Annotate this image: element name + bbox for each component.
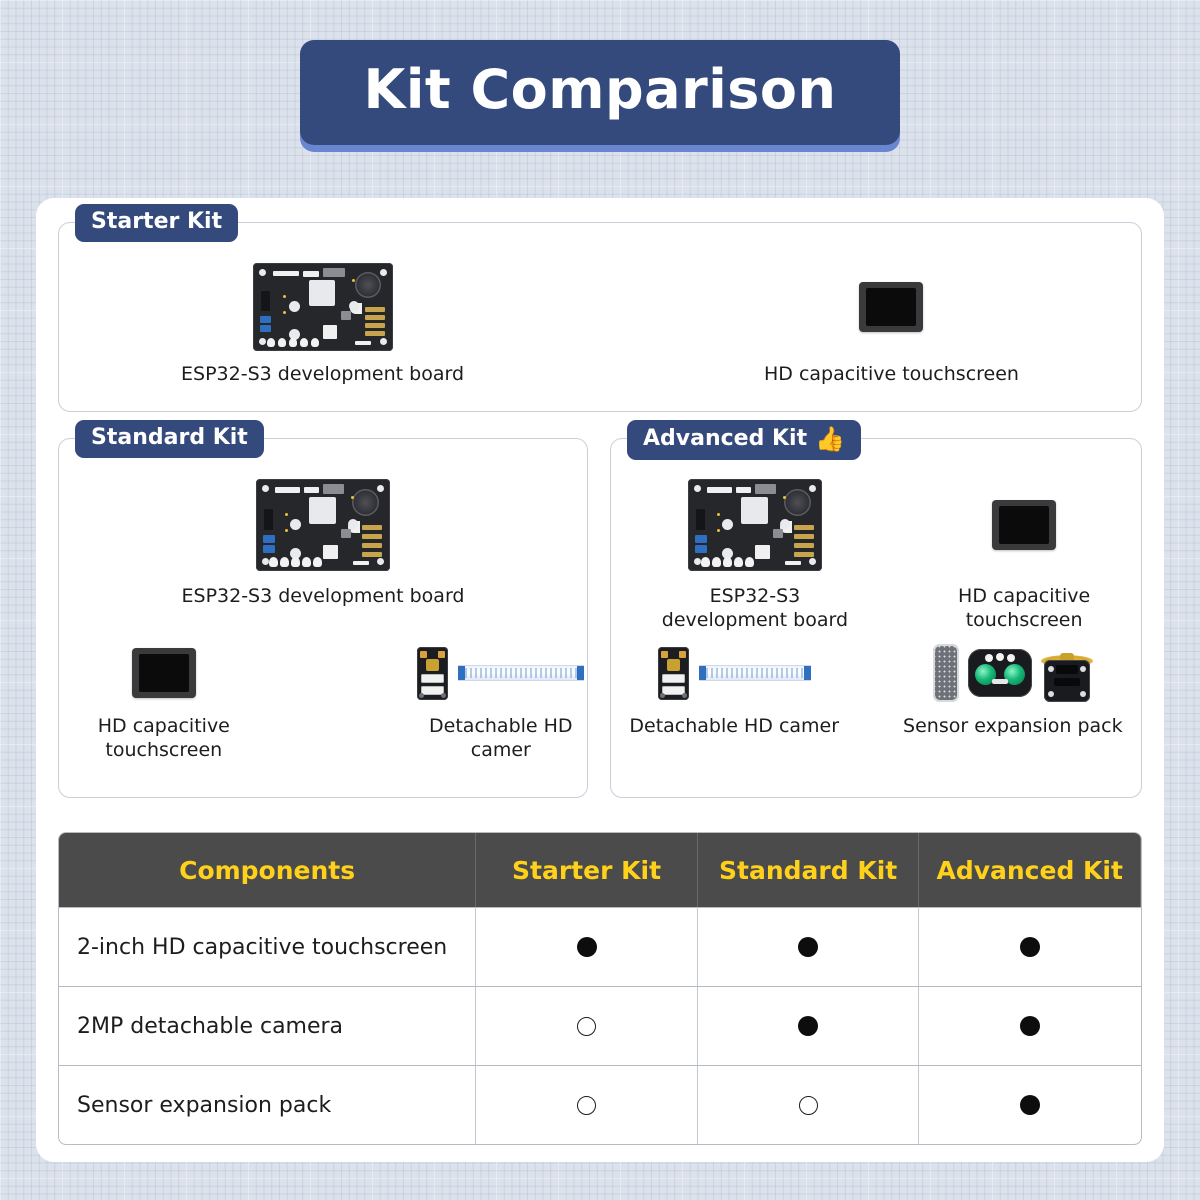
- kit-item[interactable]: HD capacitive touchscreen: [59, 641, 269, 763]
- title-banner: Kit Comparison: [300, 40, 901, 145]
- kit-items-advanced-row1: ESP32-S3 development board HD capacitive…: [611, 475, 1141, 633]
- kit-item-caption: Detachable HD camer: [415, 715, 587, 763]
- touchscreen-icon: [859, 261, 923, 353]
- filled-dot-icon: [1020, 1016, 1040, 1036]
- empty-circle-icon: [577, 1096, 596, 1115]
- table-cell-advanced: [919, 908, 1141, 986]
- kit-item-caption: HD capacitive touchscreen: [958, 585, 1090, 633]
- kit-item[interactable]: HD capacitive touchscreen: [958, 475, 1090, 633]
- table-header-standard: Standard Kit: [698, 833, 920, 907]
- kit-items-standard-row1: ESP32-S3 development board: [59, 475, 587, 609]
- kit-badge-label: Standard Kit: [91, 427, 248, 449]
- table-cell-component: Sensor expansion pack: [59, 1066, 476, 1144]
- table-row: 2-inch HD capacitive touchscreen: [59, 907, 1141, 986]
- touchscreen-icon: [132, 641, 196, 705]
- kit-item-caption: ESP32-S3 development board: [181, 363, 464, 387]
- table-cell-component: 2-inch HD capacitive touchscreen: [59, 908, 476, 986]
- table-header-row: Components Starter Kit Standard Kit Adva…: [59, 833, 1141, 907]
- filled-dot-icon: [798, 1016, 818, 1036]
- kit-item[interactable]: ESP32-S3 development board: [182, 475, 465, 609]
- kit-item-caption: Sensor expansion pack: [903, 715, 1123, 739]
- esp32-board-icon: [256, 475, 390, 575]
- esp32-board-icon: [688, 475, 822, 575]
- content-panel: Starter Kit: [36, 198, 1164, 1162]
- kit-card-starter[interactable]: Starter Kit: [58, 222, 1142, 412]
- filled-dot-icon: [577, 937, 597, 957]
- kit-item[interactable]: HD capacitive touchscreen: [764, 261, 1019, 387]
- comparison-table: Components Starter Kit Standard Kit Adva…: [58, 832, 1142, 1145]
- filled-dot-icon: [1020, 1095, 1040, 1115]
- thumbs-up-icon: 👍: [815, 427, 845, 451]
- kit-item-caption: ESP32-S3 development board: [662, 585, 848, 633]
- table-row: 2MP detachable camera: [59, 986, 1141, 1065]
- table-header-advanced: Advanced Kit: [919, 833, 1141, 907]
- table-cell-advanced: [919, 1066, 1141, 1144]
- kit-items-starter: ESP32-S3 development board HD capacitive…: [59, 261, 1141, 387]
- kit-item-caption: HD capacitive touchscreen: [764, 363, 1019, 387]
- led-matrix-icon: [933, 644, 959, 702]
- touchscreen-icon: [992, 475, 1056, 575]
- table-cell-starter: [476, 1066, 698, 1144]
- sensor-pack-icon: [933, 641, 1093, 705]
- table-cell-advanced: [919, 987, 1141, 1065]
- kit-item[interactable]: ESP32-S3 development board: [662, 475, 848, 633]
- page-title: Kit Comparison: [364, 62, 837, 119]
- kit-badge-standard: Standard Kit: [75, 420, 264, 458]
- filled-dot-icon: [1020, 937, 1040, 957]
- fan-module-icon: [1041, 644, 1093, 702]
- table-row: Sensor expansion pack: [59, 1065, 1141, 1144]
- kit-items-advanced-row2: Detachable HD camer: [611, 641, 1141, 739]
- table-cell-standard: [698, 1066, 920, 1144]
- kit-badge-label: Advanced Kit: [643, 428, 807, 450]
- page-header: Kit Comparison: [0, 40, 1200, 145]
- table-cell-starter: [476, 908, 698, 986]
- filled-dot-icon: [798, 937, 818, 957]
- table-cell-starter: [476, 987, 698, 1065]
- empty-circle-icon: [577, 1017, 596, 1036]
- table-header-starter: Starter Kit: [476, 833, 698, 907]
- esp32-board-icon: [253, 261, 393, 353]
- table-cell-standard: [698, 908, 920, 986]
- kit-item[interactable]: Detachable HD camer: [415, 641, 587, 763]
- eye-sensor-icon: [968, 649, 1032, 697]
- kit-item-caption: ESP32-S3 development board: [182, 585, 465, 609]
- table-cell-standard: [698, 987, 920, 1065]
- kit-card-advanced[interactable]: Advanced Kit 👍: [610, 438, 1142, 798]
- kit-item-caption: Detachable HD camer: [629, 715, 839, 739]
- camera-module-icon: [658, 641, 811, 705]
- camera-module-icon: [417, 641, 584, 705]
- kit-item-caption: HD capacitive touchscreen: [59, 715, 269, 763]
- kit-badge-label: Starter Kit: [91, 211, 222, 233]
- empty-circle-icon: [799, 1096, 818, 1115]
- kit-badge-advanced: Advanced Kit 👍: [627, 420, 861, 460]
- kit-item[interactable]: Sensor expansion pack: [903, 641, 1123, 739]
- table-header-components: Components: [59, 833, 476, 907]
- kit-items-standard-row2: HD capacitive touchscreen: [59, 641, 587, 763]
- kit-card-standard[interactable]: Standard Kit: [58, 438, 588, 798]
- table-cell-component: 2MP detachable camera: [59, 987, 476, 1065]
- kit-item[interactable]: Detachable HD camer: [629, 641, 839, 739]
- kit-badge-starter: Starter Kit: [75, 204, 238, 242]
- kit-item[interactable]: ESP32-S3 development board: [181, 261, 464, 387]
